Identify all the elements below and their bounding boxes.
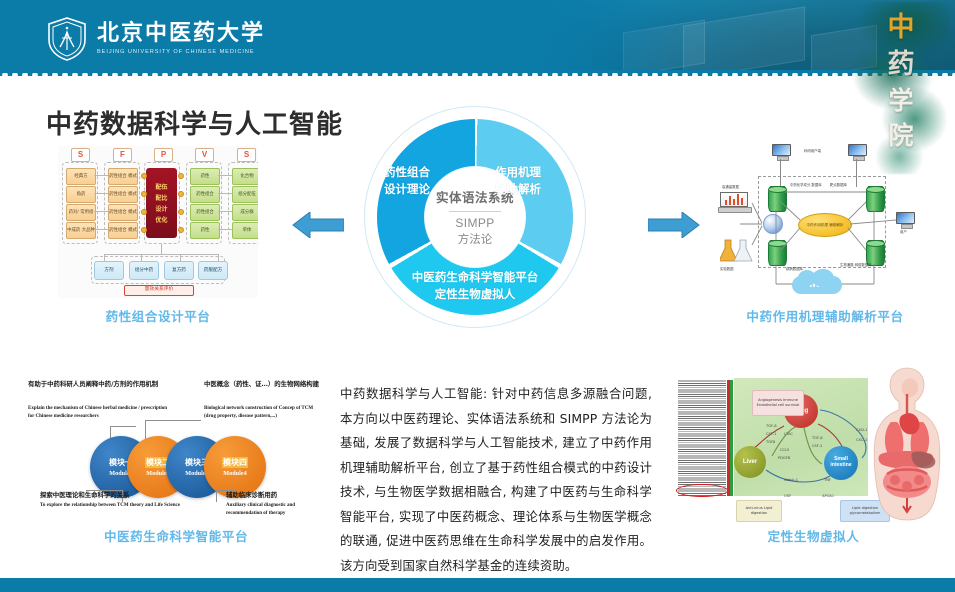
note-4-en: Auxiliary clinical diagnostic and recomm… (226, 502, 326, 517)
gene-label-8: CSF-2 (812, 444, 822, 448)
leader-line (145, 420, 201, 421)
panel-mechanism-platform: 科研用户端 用户 高通量数据 实 (700, 140, 950, 326)
center-divider (449, 211, 501, 212)
university-crest-icon (46, 16, 88, 62)
gene-label-2: CSF-1 (766, 432, 776, 436)
module-4-cn: 模块四 (222, 457, 248, 468)
note-1-cn: 有助于中药科研人员阐释中药/方剂的作用机制 (28, 380, 168, 389)
column-tag-p: P (154, 148, 173, 162)
donut-label-bottom: 中医药生命科学智能平台 定性生物虚拟人 (384, 269, 566, 302)
caption-life-science: 中医药生命科学智能平台 (26, 526, 326, 545)
cell-s1-3: 药对/ 常用组合 (66, 204, 96, 221)
column-tag-v: V (195, 148, 214, 162)
connector-node (141, 227, 147, 233)
university-name-en: BEIJING UNIVERSITY OF CHINESE MEDICINE (97, 50, 265, 56)
cell-s2-4: 单体 (232, 222, 258, 239)
opt-line-4: 优化 (146, 215, 177, 224)
human-anatomy-figure (861, 366, 953, 522)
gene-label-3: TGFβ (766, 440, 775, 444)
output-cell-2: 组分中药 (129, 261, 159, 280)
module-circle-4[interactable]: 模块四 Module4 (204, 436, 266, 498)
center-optimization-block: 配伍 配比 设计 优化 (146, 168, 177, 238)
gene-label-11: Notch 1 (784, 478, 798, 482)
arrow-left-icon (292, 212, 344, 238)
cell-s1-2: 角药 (66, 186, 96, 203)
note-3-en: To explore the relationship between TCM … (40, 502, 180, 510)
output-cell-1: 方剂 (94, 261, 124, 280)
cell-s1-1: 经典方 (66, 168, 96, 185)
leader-line (110, 426, 136, 427)
gene-label-12: TNF (824, 478, 831, 482)
mechanism-network-diagram: 科研用户端 用户 高通量数据 实 (700, 140, 950, 300)
cell-s2-1: 化合物 (232, 168, 258, 185)
panel-life-science-platform: 有助于中药科研人员阐释中药/方剂的作用机制 Explain the mechan… (26, 378, 326, 548)
cell-v-4: 药性 (190, 222, 220, 239)
connector-node (178, 191, 184, 197)
seal-char-3: 学 (888, 88, 913, 113)
caption-virtual-human: 定性生物虚拟人 (672, 526, 955, 545)
connector (94, 211, 108, 212)
slide-page: 北京中医药大学 BEIJING UNIVERSITY OF CHINESE ME… (0, 0, 955, 592)
connector-node (178, 227, 184, 233)
donut-label-right: 作用机理 辅助解析 (495, 164, 575, 197)
center-sub-simpp: SIMPP (455, 216, 494, 230)
cell-f-2: 药性组合 模式 (108, 186, 138, 203)
life-science-module-diagram: 有助于中药科研人员阐释中药/方剂的作用机制 Explain the mechan… (26, 378, 326, 524)
cell-v-1: 药性 (190, 168, 220, 185)
gene-label-13: OSF (784, 494, 791, 498)
connector (104, 254, 218, 255)
gene-label-5: CCL5 (780, 448, 789, 452)
opt-line-2: 配比 (146, 193, 177, 202)
note-3-cn: 探索中医理论和生命科学的关系 (40, 491, 180, 500)
note-2-en: Biological network construction of Conce… (204, 405, 326, 420)
opt-line-1: 配伍 (146, 182, 177, 191)
gene-label-4: I-TAC (784, 432, 793, 436)
connector-node (178, 173, 184, 179)
leader-line (216, 490, 217, 502)
output-cell-4: 药服配方 (198, 261, 228, 280)
annotation-box-immune: Angiogenesis Immune Endothelial cell sur… (752, 390, 804, 416)
drug-property-diagram: S F P V S 经典方 角药 药对/ 常用组合 中成药 大品种 药性组合 模… (58, 146, 258, 298)
caption-mechanism: 中药作用机理辅助解析平台 (700, 306, 950, 325)
connector (94, 229, 108, 230)
connector (218, 175, 232, 176)
connector-node (141, 173, 147, 179)
panel-drug-property-design: S F P V S 经典方 角药 药对/ 常用组合 中成药 大品种 药性组合 模… (58, 146, 258, 326)
cell-v-3: 药性组合 (190, 204, 220, 221)
cell-s2-2: 组分配伍 (232, 186, 258, 203)
column-tag-s1: S (71, 148, 90, 162)
arrow-right-icon (648, 212, 700, 238)
opt-line-3: 设计 (146, 204, 177, 213)
web-cloud-icon: Web (792, 276, 842, 294)
note-1-en: Explain the mechanism of Chinese herbal … (28, 405, 168, 420)
description-paragraph: 中药数据科学与人工智能: 针对中药信息多源融合问题, 本方向以中医药理论、实体语… (340, 382, 652, 579)
output-cell-3: 复方药 (164, 261, 194, 280)
donut-label-left: 药性组合 设计理论 (384, 164, 460, 197)
output-evaluation-tag: 量效关系评价 (124, 285, 194, 296)
core-donut-diagram: 实体语法系统 SIMPP 方法论 药性组合 设计理论 作用机理 辅助解析 中医药… (364, 106, 586, 328)
gene-label-14: APOA1 (822, 494, 834, 498)
cell-f-3: 药性组合 模式 (108, 204, 138, 221)
column-tag-s2: S (237, 148, 256, 162)
panel-virtual-human: Lung Liver Small intestine Angiogenesis … (672, 366, 955, 548)
cell-f-1: 药性组合 模式 (108, 168, 138, 185)
page-header: 北京中医药大学 BEIJING UNIVERSITY OF CHINESE ME… (0, 0, 955, 74)
node-small-intestine: Small intestine (824, 446, 858, 480)
page-footer (0, 578, 955, 592)
connector (94, 193, 108, 194)
university-wordmark: 北京中医药大学 BEIJING UNIVERSITY OF CHINESE ME… (97, 23, 265, 56)
cell-f-4: 药性组合 模式 (108, 222, 138, 239)
university-name-cn: 北京中医药大学 (97, 23, 265, 45)
note-4-cn: 辅助临床诊断用药 (226, 491, 326, 500)
virtual-human-diagram: Lung Liver Small intestine Angiogenesis … (672, 366, 955, 524)
connector-node (141, 191, 147, 197)
column-tag-f: F (113, 148, 132, 162)
node-liver: Liver (734, 446, 766, 478)
annotation-box-antivirus: Anti-virus Lipid digestion (736, 500, 782, 522)
connector-node (178, 209, 184, 215)
note-2-cn: 中医概念（药性、证…）的生物网络构建 (204, 380, 326, 389)
gene-label-6: PDGFB (778, 456, 790, 460)
module-4-en: Module4 (223, 470, 246, 477)
page-title: 中药数据科学与人工智能 (46, 104, 343, 141)
ornamental-divider (0, 70, 955, 81)
connector (218, 193, 232, 194)
connector (161, 244, 162, 254)
cell-s2-3: 成分群 (232, 204, 258, 221)
photo-gradient-veil (520, 0, 850, 74)
university-logo: 北京中医药大学 BEIJING UNIVERSITY OF CHINESE ME… (46, 16, 265, 62)
gene-label-7: TGF-β (812, 436, 823, 440)
cell-v-2: 药性组合 (190, 186, 220, 203)
connector (94, 175, 108, 176)
connector (218, 229, 232, 230)
connector (218, 211, 232, 212)
connector-node (141, 209, 147, 215)
caption-drug-property: 药性组合设计平台 (58, 306, 258, 325)
gene-label-1: TGF-β (766, 424, 777, 428)
center-sub-method: 方法论 (458, 231, 493, 247)
cell-s1-4: 中成药 大品种 (66, 222, 96, 239)
scallop-base (0, 76, 955, 81)
